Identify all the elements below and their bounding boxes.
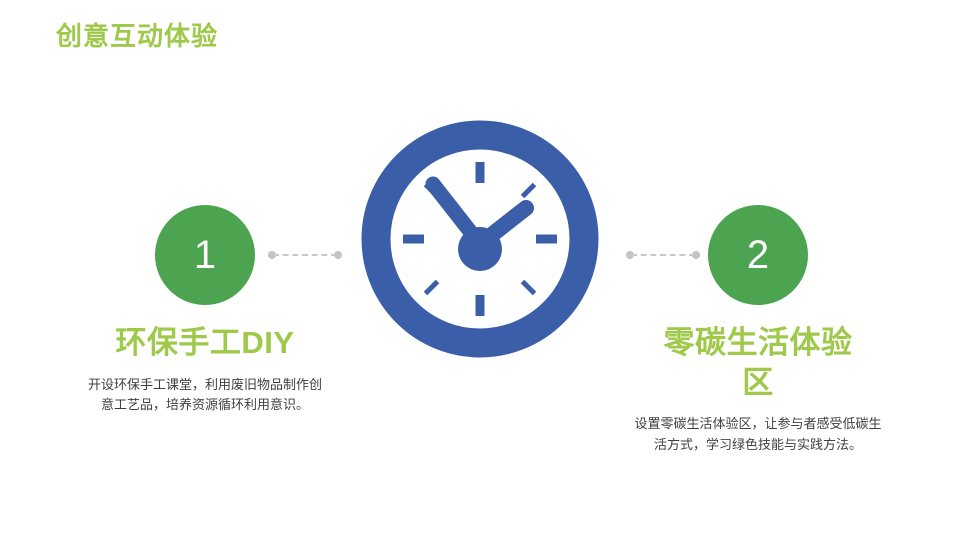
step-number-1: 1 [194, 235, 216, 275]
step-item-1: 1 环保手工DIY 开设环保手工课堂，利用废旧物品制作创意工艺品，培养资源循环利… [45, 205, 365, 416]
page-title: 创意互动体验 [56, 21, 218, 52]
step-item-2: 2 零碳生活体验区 设置零碳生活体验区，让参与者感受低碳生活方式，学习绿色技能与… [598, 205, 918, 455]
clock-icon-svg [361, 120, 599, 358]
step-number-2: 2 [747, 235, 769, 275]
step-body-2: 设置零碳生活体验区，让参与者感受低碳生活方式，学习绿色技能与实践方法。 [598, 414, 918, 455]
clock-center-hub [458, 227, 502, 271]
step-heading-2: 零碳生活体验区 [598, 323, 918, 402]
step-number-badge-1: 1 [155, 205, 255, 305]
step-body-1: 开设环保手工课堂，利用废旧物品制作创意工艺品，培养资源循环利用意识。 [45, 375, 365, 416]
step-heading-1: 环保手工DIY [45, 323, 365, 363]
step-number-badge-2: 2 [708, 205, 808, 305]
clock-icon [361, 120, 599, 358]
slide-canvas: 创意互动体验 [0, 0, 960, 540]
